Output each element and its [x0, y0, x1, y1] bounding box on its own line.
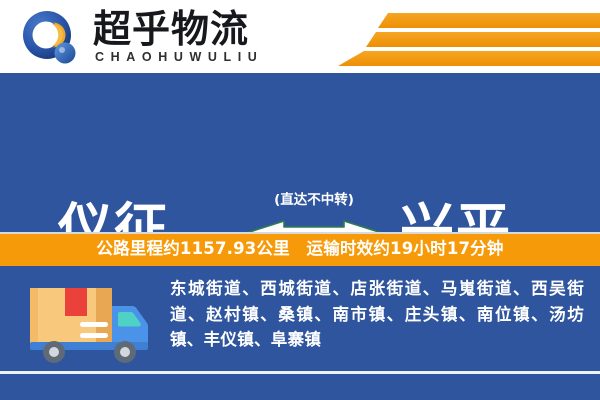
coverage-areas-text: 东城街道、西城街道、店张街道、马嵬街道、西吴街道、赵村镇、桑镇、南市镇、庄头镇、… — [170, 276, 584, 353]
logistics-route-banner: 超乎物流 CHAOHUWULIU 仪征 (直达不中转) — [0, 0, 600, 400]
ground-line-divider — [0, 371, 600, 374]
distance-duration-text: 公路里程约1157.93公里 运输时效约19小时17分钟 — [96, 239, 503, 259]
brand-name-cn: 超乎物流 — [93, 8, 249, 50]
distance-duration-bar: 公路里程约1157.93公里 运输时效约19小时17分钟 — [0, 232, 600, 266]
orange-chevron-stripes-icon — [300, 0, 600, 73]
route-panel: 仪征 (直达不中转) 【往返运输】 兴平 — [0, 73, 600, 232]
coverage-panel: 东城街道、西城街道、店张街道、马嵬街道、西吴街道、赵村镇、桑镇、南市镇、庄头镇、… — [0, 266, 600, 400]
direct-route-note: (直达不中转) — [238, 191, 390, 209]
banner-header: 超乎物流 CHAOHUWULIU — [0, 0, 600, 73]
delivery-truck-icon — [28, 276, 158, 371]
brand-name-en: CHAOHUWULIU — [95, 50, 263, 64]
company-logo-icon — [22, 10, 78, 66]
